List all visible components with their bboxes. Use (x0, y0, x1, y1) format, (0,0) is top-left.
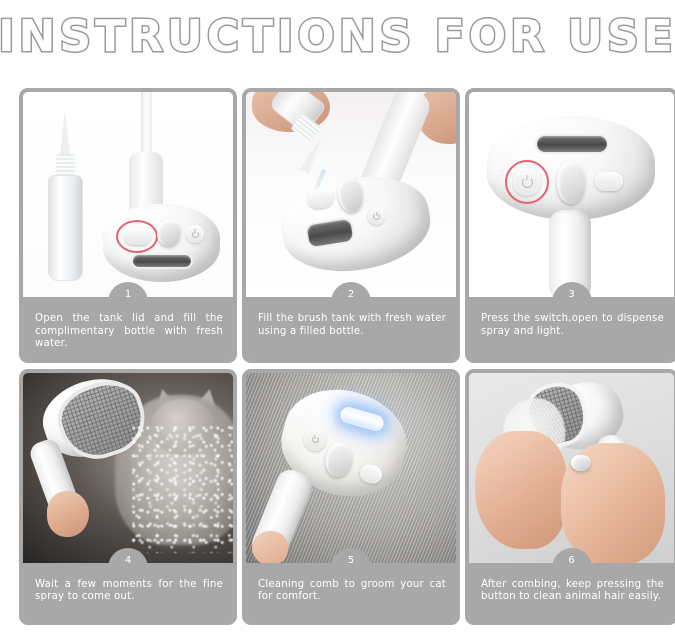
step-caption-3: 3 Press the switch,open to dispense spra… (469, 297, 674, 359)
spray-knob[interactable] (157, 220, 180, 246)
step-caption-text-4: Wait a few moments for the fine spray to… (35, 579, 223, 604)
step-caption-5: 5 Cleaning comb to groom your cat for co… (246, 563, 456, 621)
step-panel-4: 4 Wait a few moments for the fine spray … (19, 369, 237, 625)
step-photo-6 (469, 373, 674, 563)
page-title: INSTRUCTIONS FOR USE (0, 0, 675, 72)
highlight-ring-icon (505, 160, 549, 204)
bottle-neck (56, 154, 75, 176)
step-photo-4 (23, 373, 233, 563)
step-caption-text-5: Cleaning comb to groom your cat for comf… (258, 579, 446, 604)
step-caption-text-1: Open the tank lid and fill the complimen… (35, 313, 223, 351)
step-panel-2: 2 Fill the brush tank with fresh water u… (242, 88, 460, 363)
power-button[interactable] (304, 429, 326, 451)
page-title-text: INSTRUCTIONS FOR USE (0, 11, 675, 62)
power-button[interactable] (186, 225, 204, 243)
bottle-body (48, 175, 83, 281)
spray-knob[interactable] (571, 455, 591, 471)
hand-holding-device (252, 531, 288, 563)
power-icon (373, 213, 380, 220)
step-caption-6: 6 After combing, keep pressing the butto… (469, 563, 674, 621)
light-slot (537, 136, 607, 152)
step-photo-1 (23, 92, 233, 297)
step-panel-6: 6 After combing, keep pressing the butto… (465, 369, 675, 625)
step-panel-3: 3 Press the switch,open to dispense spra… (465, 88, 675, 363)
power-icon (192, 231, 199, 238)
step-panel-5: 5 Cleaning comb to groom your cat for co… (242, 369, 460, 625)
steps-grid: 1 Open the tank lid and fill the complim… (19, 88, 657, 625)
step-photo-3 (469, 92, 674, 297)
bottle-nozzle-tip (60, 110, 70, 156)
light-slot (133, 255, 191, 267)
instructions-page: INSTRUCTIONS FOR USE 1 Ope (0, 0, 675, 639)
hand-holding-device (47, 491, 89, 537)
step-caption-text-2: Fill the brush tank with fresh water usi… (258, 313, 446, 338)
step-caption-2: 2 Fill the brush tank with fresh water u… (246, 297, 456, 359)
tank-lid-button[interactable] (595, 172, 623, 191)
step-photo-5 (246, 373, 456, 563)
step-photo-2 (246, 92, 456, 297)
step-caption-1: 1 Open the tank lid and fill the complim… (23, 297, 233, 359)
step-caption-4: 4 Wait a few moments for the fine spray … (23, 563, 233, 621)
highlight-ring-icon (116, 220, 158, 253)
power-button[interactable] (368, 208, 385, 225)
step-panel-1: 1 Open the tank lid and fill the complim… (19, 88, 237, 363)
step-caption-text-3: Press the switch,open to dispense spray … (481, 313, 664, 338)
power-icon (312, 436, 319, 443)
hand-pulling-hair (475, 431, 567, 549)
spray-knob[interactable] (557, 162, 585, 204)
step-caption-text-6: After combing, keep pressing the button … (481, 579, 664, 604)
water-mist (131, 425, 233, 553)
